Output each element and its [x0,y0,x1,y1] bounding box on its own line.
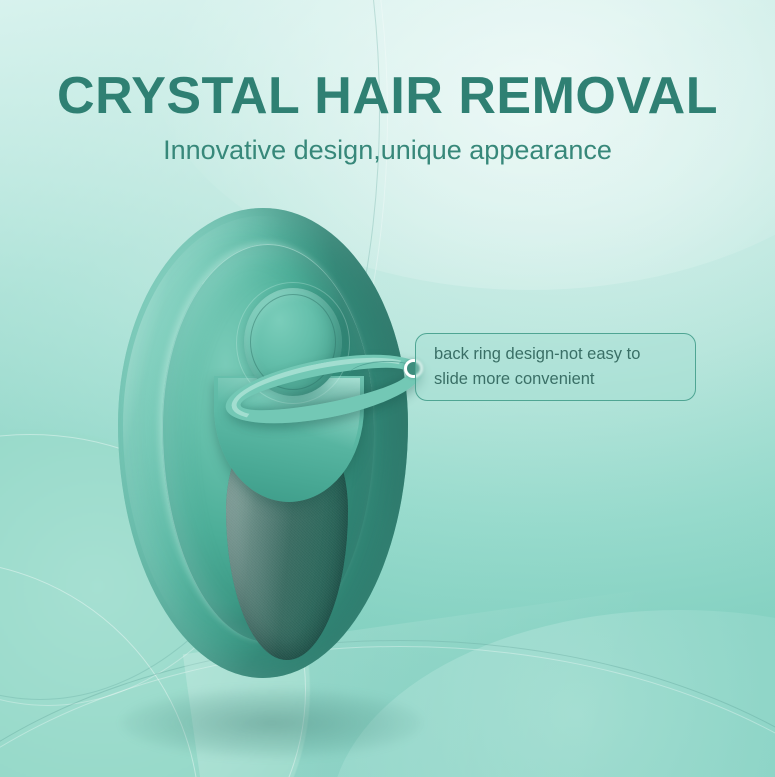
product-device [118,208,408,678]
banner-title: CRYSTAL HAIR REMOVAL [0,66,775,126]
product-banner: CRYSTAL HAIR REMOVAL Innovative design,u… [0,0,775,777]
callout-box: back ring design-not easy to slide more … [415,333,696,401]
device-ground-shadow [122,688,422,758]
banner-subtitle: Innovative design,unique appearance [0,135,775,166]
callout-text: back ring design-not easy to slide more … [434,342,684,392]
